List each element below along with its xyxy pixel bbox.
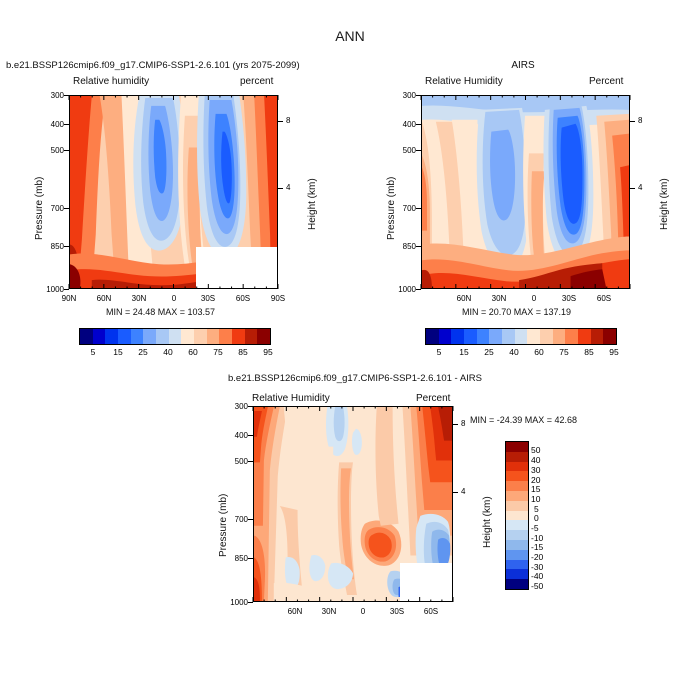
page-title: ANN <box>0 28 700 44</box>
panel-obs-ytick-500: 500 <box>382 146 416 155</box>
panel-obs-xtick-30N: 30N <box>486 294 512 303</box>
panel-diff-cbar-label: 40 <box>531 455 540 465</box>
panel-diff-cbar-label: -5 <box>531 523 539 533</box>
panel-model-ytick-500: 500 <box>30 146 64 155</box>
panel-obs-cbar-label: 75 <box>551 347 577 357</box>
panel-obs-stats: MIN = 20.70 MAX = 137.19 <box>462 307 571 317</box>
panel-diff-cbar-label: 10 <box>531 494 540 504</box>
panel-obs-ytickmark <box>416 289 421 290</box>
panel-diff-plot <box>253 406 453 602</box>
panel-obs-xtick-60S: 60S <box>591 294 617 303</box>
panel-diff-ytickmark <box>248 461 253 462</box>
panel-diff-xtick-0: 0 <box>350 607 376 616</box>
panel-diff-ytick-400: 400 <box>214 431 248 440</box>
panel-obs-cbar-label: 40 <box>501 347 527 357</box>
panel-model-missing-data-mask <box>196 247 278 289</box>
panel-diff-ytick-500: 500 <box>214 457 248 466</box>
panel-model-ytick-700: 700 <box>30 204 64 213</box>
panel-diff-htickmark <box>453 492 458 493</box>
panel-obs-cbar-label: 95 <box>601 347 627 357</box>
panel-diff-cbar-label: -50 <box>531 581 543 591</box>
panel-diff-cbar-label: -40 <box>531 571 543 581</box>
panel-model-variable-label: Relative humidity <box>73 76 149 87</box>
panel-diff-ytick-300: 300 <box>214 402 248 411</box>
panel-obs-cbar-label: 5 <box>426 347 452 357</box>
panel-model-xtick-0: 0 <box>161 294 187 303</box>
panel-diff-htick-8: 8 <box>461 419 465 428</box>
panel-model-stats: MIN = 24.48 MAX = 103.57 <box>106 307 215 317</box>
panel-diff-stats: MIN = -24.39 MAX = 42.68 <box>470 415 577 425</box>
panel-diff-cbar-label: 30 <box>531 465 540 475</box>
panel-obs-contour-field <box>422 96 629 288</box>
panel-diff-ytickmark <box>248 406 253 407</box>
panel-diff-cbar-label: -15 <box>531 542 543 552</box>
panel-diff-missing-data-mask <box>400 563 453 602</box>
panel-diff-ytick-1000: 1000 <box>214 598 248 607</box>
panel-model-ytickmark <box>64 246 69 247</box>
panel-model-cbar-label: 15 <box>105 347 131 357</box>
panel-diff-ytick-850: 850 <box>214 554 248 563</box>
panel-obs-ytickmark <box>416 124 421 125</box>
panel-model-xtick-60N: 60N <box>91 294 117 303</box>
panel-diff-cbar-label: 50 <box>531 445 540 455</box>
panel-model-unit-label: percent <box>240 76 273 87</box>
panel-model-htick-8: 8 <box>286 116 290 125</box>
panel-obs-htick-4: 4 <box>638 183 642 192</box>
panel-obs-htickmark <box>630 188 635 189</box>
panel-obs-htick-8: 8 <box>638 116 642 125</box>
panel-model-cbar-label: 85 <box>230 347 256 357</box>
panel-obs-xtick-60N: 60N <box>451 294 477 303</box>
panel-model-xtick-90N: 90N <box>56 294 82 303</box>
panel-model-cbar-label: 40 <box>155 347 181 357</box>
panel-model-ytick-300: 300 <box>30 91 64 100</box>
panel-model-xtick-60S: 60S <box>230 294 256 303</box>
panel-diff-ytickmark <box>248 435 253 436</box>
panel-model-height-axis-title: Height (km) <box>307 178 318 230</box>
panel-obs-xtick-30S: 30S <box>556 294 582 303</box>
panel-diff-cbar-label: 0 <box>534 513 539 523</box>
panel-model-plot <box>69 95 278 289</box>
panel-obs-ytick-700: 700 <box>382 204 416 213</box>
panel-model-cbar-label: 60 <box>180 347 206 357</box>
panel-model-htickmark <box>278 188 283 189</box>
panel-diff-colorbar <box>505 441 529 590</box>
panel-obs-cbar-label: 25 <box>476 347 502 357</box>
panel-diff-ytickmark <box>248 602 253 603</box>
panel-diff-subtitle: b.e21.BSSP126cmip6.f09_g17.CMIP6-SSP1-2.… <box>160 373 550 384</box>
panel-model-xtick-90S: 90S <box>265 294 291 303</box>
panel-model-xtick-30N: 30N <box>126 294 152 303</box>
panel-model-ytickmark <box>64 208 69 209</box>
panel-obs-ytickmark <box>416 208 421 209</box>
panel-obs-ytick-850: 850 <box>382 242 416 251</box>
panel-model-cbar-label: 5 <box>80 347 106 357</box>
panel-obs-unit-label: Percent <box>589 76 623 87</box>
panel-diff-unit-label: Percent <box>416 393 450 404</box>
panel-diff-ytick-700: 700 <box>214 515 248 524</box>
panel-obs-ytick-400: 400 <box>382 120 416 129</box>
panel-model-subtitle: b.e21.BSSP126cmip6.f09_g17.CMIP6-SSP1-2.… <box>6 60 300 71</box>
panel-model-ytick-400: 400 <box>30 120 64 129</box>
panel-model-ytickmark <box>64 289 69 290</box>
panel-diff-ytickmark <box>248 519 253 520</box>
panel-obs-cbar-label: 85 <box>576 347 602 357</box>
panel-diff-cbar-label: 15 <box>531 484 540 494</box>
panel-diff-htickmark <box>453 424 458 425</box>
panel-obs-colorbar <box>425 328 617 345</box>
panel-diff-height-axis-title: Height (km) <box>482 496 493 548</box>
panel-obs-subtitle: AIRS <box>418 60 628 71</box>
panel-obs-xtick-0: 0 <box>521 294 547 303</box>
panel-model-htickmark <box>278 121 283 122</box>
panel-model-colorbar <box>79 328 271 345</box>
panel-diff-htick-4: 4 <box>461 487 465 496</box>
panel-obs-ytick-1000: 1000 <box>382 285 416 294</box>
panel-obs-variable-label: Relative Humidity <box>425 76 503 87</box>
panel-model-cbar-label: 75 <box>205 347 231 357</box>
panel-model-ytickmark <box>64 124 69 125</box>
panel-model-ytickmark <box>64 150 69 151</box>
panel-diff-xtick-30N: 30N <box>316 607 342 616</box>
panel-model-ytickmark <box>64 95 69 96</box>
panel-model-ytick-850: 850 <box>30 242 64 251</box>
panel-diff-xtick-30S: 30S <box>384 607 410 616</box>
panel-model-htick-4: 4 <box>286 183 290 192</box>
panel-diff-cbar-label: -20 <box>531 552 543 562</box>
panel-obs-height-axis-title: Height (km) <box>659 178 670 230</box>
panel-model-cbar-label: 25 <box>130 347 156 357</box>
panel-obs-ytickmark <box>416 150 421 151</box>
panel-obs-ytickmark <box>416 95 421 96</box>
panel-obs-cbar-label: 60 <box>526 347 552 357</box>
panel-model-ytick-1000: 1000 <box>30 285 64 294</box>
panel-diff-variable-label: Relative Humidity <box>252 393 330 404</box>
panel-obs-htickmark <box>630 121 635 122</box>
panel-diff-ytickmark <box>248 558 253 559</box>
panel-obs-plot <box>421 95 630 289</box>
panel-diff-xtick-60N: 60N <box>282 607 308 616</box>
panel-obs-ytickmark <box>416 246 421 247</box>
panel-model-xtick-30S: 30S <box>195 294 221 303</box>
panel-model-cbar-label: 95 <box>255 347 281 357</box>
panel-obs-ytick-300: 300 <box>382 91 416 100</box>
panel-diff-y-axis-title: Pressure (mb) <box>218 494 229 557</box>
panel-obs-cbar-label: 15 <box>451 347 477 357</box>
panel-diff-xtick-60S: 60S <box>418 607 444 616</box>
